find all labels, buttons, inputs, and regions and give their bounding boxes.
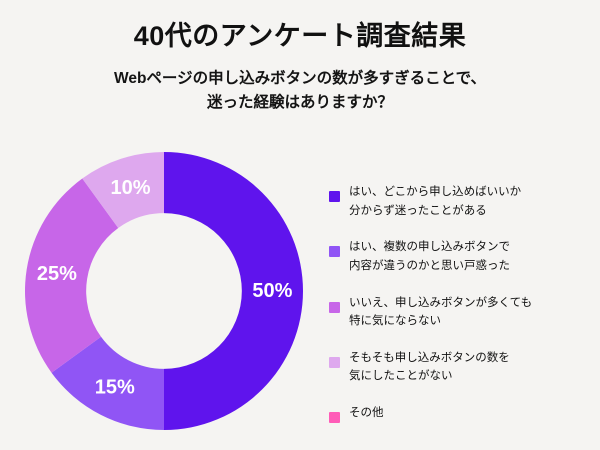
donut-slice-label-4: 10%	[110, 177, 150, 199]
donut-chart-svg: 50%15%25%10%	[25, 152, 303, 430]
legend-swatch-5	[329, 412, 340, 423]
donut-slice-label-1: 50%	[252, 280, 292, 302]
legend-item-2[interactable]: はい、複数の申し込みボタンで 内容が違うのかと思い戸惑った	[329, 237, 591, 275]
header: 40代のアンケート調査結果 Webページの申し込みボタンの数が多すぎることで、 …	[0, 0, 600, 115]
legend-label-4: そもそも申し込みボタンの数を 気にしたことがない	[349, 348, 510, 386]
legend-label-3: いいえ、申し込みボタンが多くても 特に気にならない	[349, 293, 532, 331]
legend-item-3[interactable]: いいえ、申し込みボタンが多くても 特に気にならない	[329, 293, 591, 331]
legend-swatch-4	[329, 357, 340, 368]
survey-infographic: 40代のアンケート調査結果 Webページの申し込みボタンの数が多すぎることで、 …	[0, 0, 600, 450]
legend-item-5[interactable]: その他	[329, 403, 591, 423]
legend-swatch-3	[329, 302, 340, 313]
legend-swatch-1	[329, 191, 340, 202]
legend-label-2: はい、複数の申し込みボタンで 内容が違うのかと思い戸惑った	[349, 237, 510, 275]
page-subtitle: Webページの申し込みボタンの数が多すぎることで、 迷った経験はありますか？	[0, 52, 600, 115]
legend-label-5: その他	[349, 403, 384, 423]
donut-chart: 50%15%25%10%	[25, 152, 303, 430]
legend-label-1: はい、どこから申し込めばいいか 分からず迷ったことがある	[349, 182, 521, 220]
legend-swatch-2	[329, 246, 340, 257]
donut-slice-label-2: 15%	[95, 377, 135, 399]
page-title: 40代のアンケート調査結果	[0, 0, 600, 52]
legend-item-1[interactable]: はい、どこから申し込めばいいか 分からず迷ったことがある	[329, 182, 591, 220]
page-subtitle-line-1: Webページの申し込みボタンの数が多すぎることで、	[0, 67, 600, 91]
legend-item-4[interactable]: そもそも申し込みボタンの数を 気にしたことがない	[329, 348, 591, 386]
chart-legend: はい、どこから申し込めばいいか 分からず迷ったことがあるはい、複数の申し込みボタ…	[329, 182, 591, 423]
donut-slice-label-3: 25%	[37, 263, 77, 285]
page-subtitle-line-2: 迷った経験はありますか？	[0, 91, 600, 115]
